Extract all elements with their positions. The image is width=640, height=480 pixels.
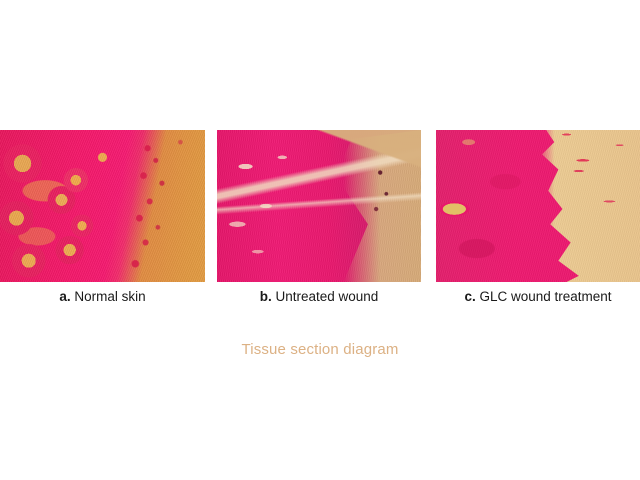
panel-c-caption-text: GLC wound treatment [479,289,611,304]
panel-a-label: a. [59,289,70,304]
panel-a-normal-skin[interactable] [0,130,205,282]
micrograph-image-a [0,130,205,282]
panel-a-caption: a. Normal skin [0,288,205,306]
figure-title: Tissue section diagram [0,340,640,360]
panel-b-caption-text: Untreated wound [275,289,378,304]
panel-a-caption-text: Normal skin [74,289,145,304]
panel-c-caption: c. GLC wound treatment [436,288,640,306]
micrograph-image-b [217,130,421,282]
caption-row: a. Normal skin b. Untreated wound c. GLC… [0,288,640,308]
panel-c-glc-wound-treatment[interactable] [436,130,640,282]
panel-b-caption: b. Untreated wound [217,288,421,306]
panel-b-label: b. [260,289,272,304]
figure-root: a. Normal skin b. Untreated wound c. GLC… [0,0,640,480]
micrograph-image-c [436,130,640,282]
panel-c-label: c. [464,289,475,304]
panel-b-untreated-wound[interactable] [217,130,421,282]
micrograph-panel-row [0,130,640,282]
